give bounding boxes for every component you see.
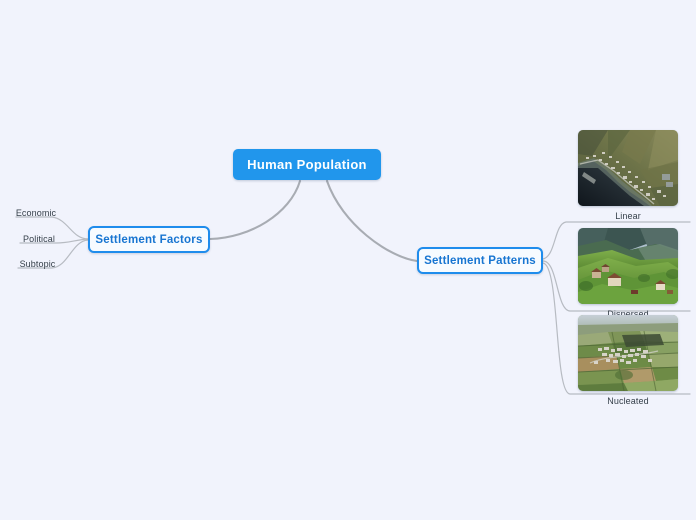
root-node-human-population[interactable]: Human Population bbox=[233, 149, 381, 180]
image-node-dispersed[interactable]: Dispersed bbox=[578, 228, 678, 320]
image-node-linear[interactable]: Linear bbox=[578, 130, 678, 222]
branch-node-label: Settlement Patterns bbox=[424, 255, 536, 267]
linear-settlement-photo bbox=[578, 130, 678, 206]
branch-node-label: Settlement Factors bbox=[95, 234, 202, 246]
root-node-label: Human Population bbox=[247, 157, 367, 172]
image-node-caption: Nucleated bbox=[607, 395, 648, 407]
image-node-caption: Linear bbox=[615, 210, 641, 222]
leaf-node-label: Subtopic bbox=[20, 259, 56, 269]
leaf-node-label: Political bbox=[23, 234, 55, 244]
connector-root-to-factors bbox=[210, 181, 300, 239]
branch-node-settlement-factors[interactable]: Settlement Factors bbox=[88, 226, 210, 253]
branch-node-settlement-patterns[interactable]: Settlement Patterns bbox=[417, 247, 543, 274]
leaf-node-label: Economic bbox=[16, 208, 56, 218]
dispersed-settlement-photo bbox=[578, 228, 678, 304]
image-node-nucleated[interactable]: Nucleated bbox=[578, 315, 678, 407]
leaf-node-economic[interactable]: Economic bbox=[14, 206, 58, 219]
leaf-node-subtopic[interactable]: Subtopic bbox=[17, 257, 58, 270]
nucleated-settlement-photo bbox=[578, 315, 678, 391]
connector-root-to-patterns bbox=[327, 181, 417, 261]
leaf-node-political[interactable]: Political bbox=[20, 232, 58, 245]
mindmap-canvas[interactable]: Human Population Settlement Factors Econ… bbox=[0, 0, 696, 520]
